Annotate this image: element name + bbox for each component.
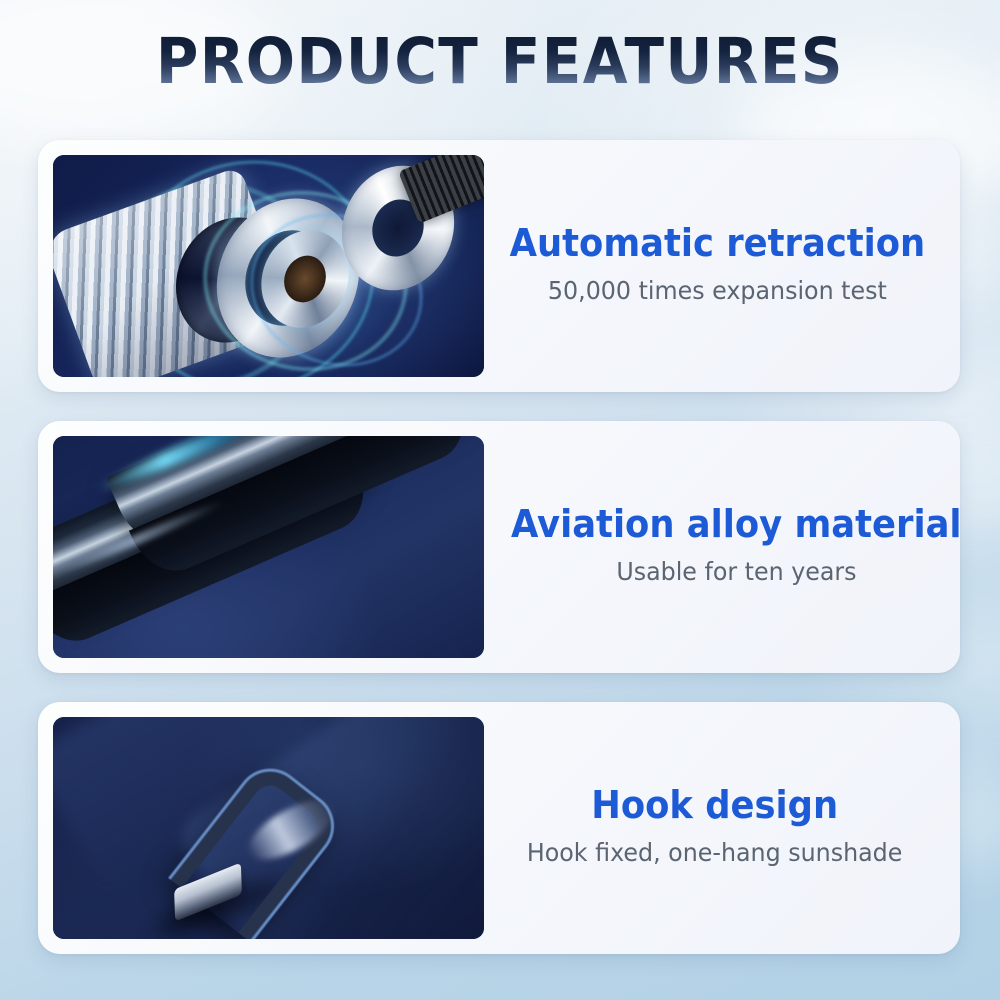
feature-subtitle: 50,000 times expansion test <box>548 276 887 306</box>
feature-title: Hook design <box>591 784 838 827</box>
product-features-infographic: PRODUCT FEATURES <box>0 0 1000 1000</box>
retraction-mechanism-image <box>53 155 484 377</box>
alloy-profile-image <box>53 436 484 658</box>
hook-design-image <box>53 717 484 939</box>
page-title-container: PRODUCT FEATURES <box>0 0 1000 122</box>
feature-card: Hook design Hook fixed, one-hang sunshad… <box>38 702 960 954</box>
feature-card: Aviation alloy material Usable for ten y… <box>38 421 960 673</box>
feature-subtitle: Hook fixed, one-hang sunshade <box>527 838 903 868</box>
feature-title: Aviation alloy material <box>511 503 962 546</box>
feature-title: Automatic retraction <box>510 222 926 265</box>
feature-card: Automatic retraction 50,000 times expans… <box>38 140 960 392</box>
feature-caption: Aviation alloy material Usable for ten y… <box>484 436 988 658</box>
retraction-artwork <box>53 155 484 377</box>
feature-subtitle: Usable for ten years <box>616 557 856 587</box>
feature-caption: Hook design Hook fixed, one-hang sunshad… <box>484 717 945 939</box>
alloy-artwork <box>53 436 484 658</box>
feature-caption: Automatic retraction 50,000 times expans… <box>484 155 951 377</box>
page-title: PRODUCT FEATURES <box>156 30 844 93</box>
feature-card-list: Automatic retraction 50,000 times expans… <box>38 140 960 954</box>
hook-artwork <box>53 717 484 939</box>
